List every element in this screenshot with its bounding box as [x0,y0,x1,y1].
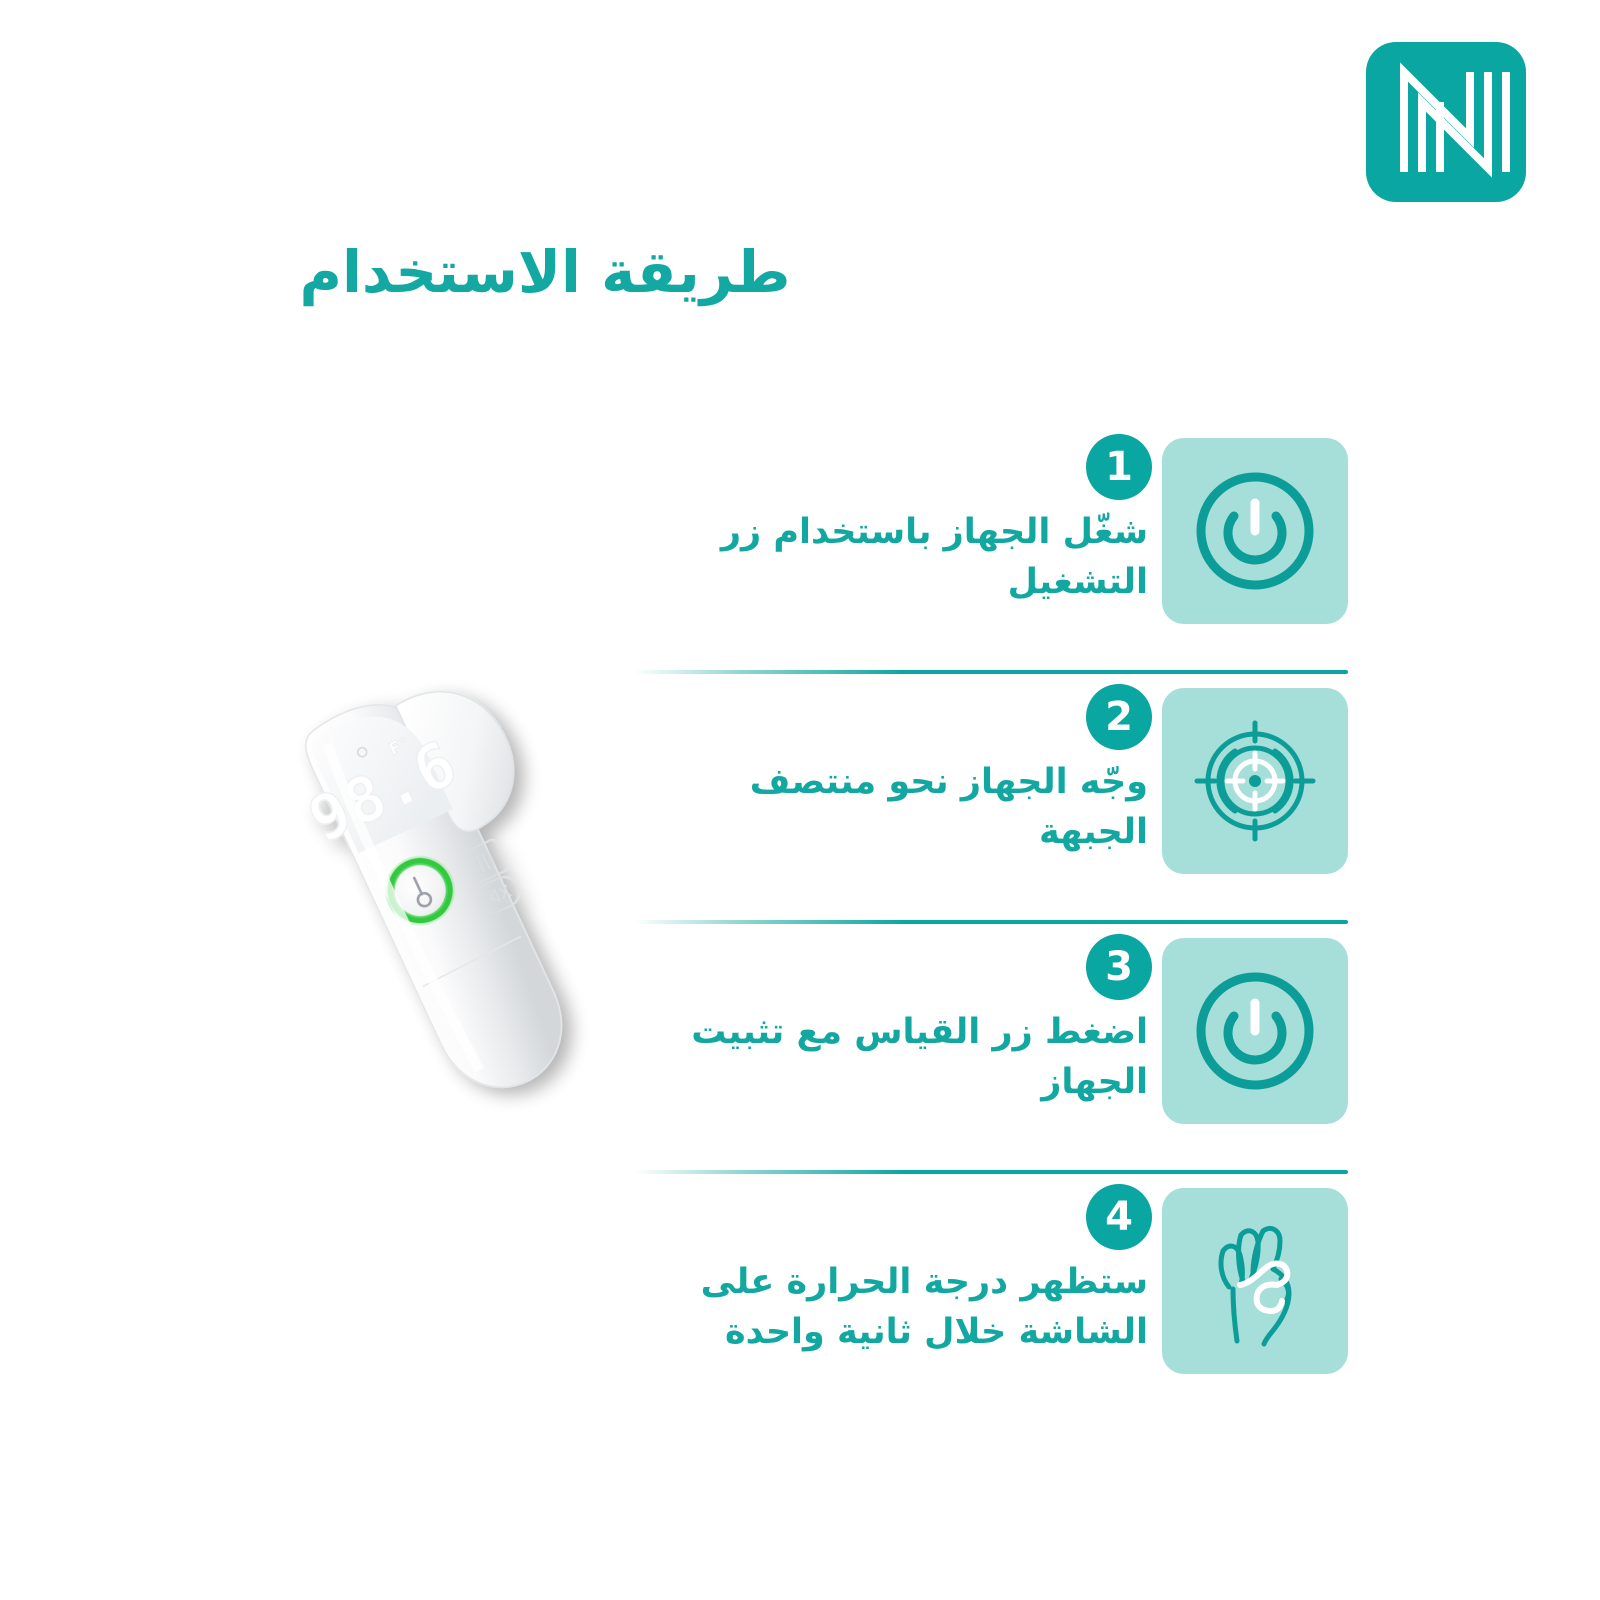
step-1-text: شغّل الجهاز باستخدام زر التشغيل [643,508,1148,607]
thermometer-illustration: 98.6 °F [248,668,648,1138]
nahdi-logo-icon [1366,42,1526,202]
step-1-divider [634,670,1348,674]
power-button-icon [1189,465,1321,597]
step-item-3: 3 اضغط زر القياس مع تثبيت الجهاز [632,930,1348,1180]
thermometer-svg: 98.6 °F [248,668,648,1138]
step-3-divider [634,1170,1348,1174]
power-button-icon [1189,965,1321,1097]
brand-logo [1366,42,1526,202]
step-item-4: 4 ستظهر درجة الحرارة على الشاشة خلال ثان… [632,1180,1348,1430]
step-4-icon-card [1162,1188,1348,1374]
target-crosshair-icon [1187,713,1323,849]
step-3-icon-card [1162,938,1348,1124]
step-2-text: وجّه الجهاز نحو منتصف الجبهة [643,758,1148,857]
step-1-icon-card [1162,438,1348,624]
ok-hand-gesture-icon [1185,1211,1325,1351]
step-1-number-badge: 1 [1086,434,1152,500]
step-item-2: 2 وجّه الجهاز نحو منتصف الجبهة [632,680,1348,930]
step-2-icon-card [1162,688,1348,874]
step-2-divider [634,920,1348,924]
steps-list: 1 شغّل الجهاز باستخدام زر التشغيل [632,430,1348,1430]
page-title: طريقة الاستخدام [0,238,1090,306]
step-3-number-badge: 3 [1086,934,1152,1000]
step-2-number-badge: 2 [1086,684,1152,750]
step-4-text: ستظهر درجة الحرارة على الشاشة خلال ثانية… [643,1258,1148,1357]
step-item-1: 1 شغّل الجهاز باستخدام زر التشغيل [632,430,1348,680]
infographic-canvas: طريقة الاستخدام [0,0,1600,1600]
step-4-number-badge: 4 [1086,1184,1152,1250]
step-3-text: اضغط زر القياس مع تثبيت الجهاز [643,1008,1148,1107]
